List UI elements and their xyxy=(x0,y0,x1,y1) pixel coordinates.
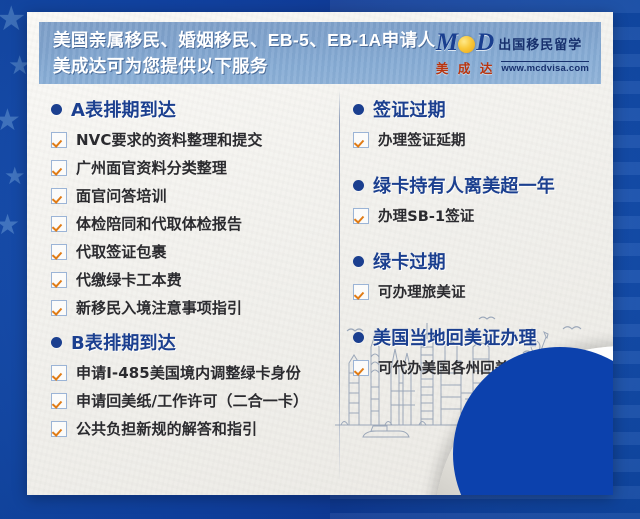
list-item[interactable]: 代缴绿卡工本费 xyxy=(51,269,339,290)
list-item-label: 面官问答培训 xyxy=(76,185,167,206)
list-item[interactable]: 体检陪同和代取体检报告 xyxy=(51,213,339,234)
list-item[interactable]: 申请I-485美国境内调整绿卡身份 xyxy=(51,362,339,383)
list-item-label: 广州面官资料分类整理 xyxy=(76,157,227,178)
checkbox-checked-icon[interactable] xyxy=(51,421,67,437)
bullet-icon xyxy=(51,104,62,115)
left-column: A表排期到达 NVC要求的资料整理和提交 广州面官资料分类整理 面官问答培训 体… xyxy=(39,90,339,482)
group-label: 绿卡过期 xyxy=(373,248,446,274)
list-item[interactable]: 办理SB-1签证 xyxy=(353,205,601,226)
logo-orb-icon xyxy=(458,36,475,53)
list-item[interactable]: 面官问答培训 xyxy=(51,185,339,206)
list-item-label: 申请回美纸/工作许可（二合一卡） xyxy=(76,390,308,411)
list-item-label: 申请I-485美国境内调整绿卡身份 xyxy=(76,362,301,383)
group-label: 签证过期 xyxy=(373,96,446,122)
checkbox-checked-icon[interactable] xyxy=(353,208,369,224)
spacer xyxy=(353,233,601,242)
list-item-label: 办理签证延期 xyxy=(378,129,466,150)
bullet-icon xyxy=(353,256,364,267)
group-label: 美国当地回美证办理 xyxy=(373,324,537,350)
list-item-label: 代取签证包裹 xyxy=(76,241,167,262)
list-item-label: 公共负担新规的解答和指引 xyxy=(76,418,257,439)
bullet-icon xyxy=(353,104,364,115)
list-item[interactable]: 申请回美纸/工作许可（二合一卡） xyxy=(51,390,339,411)
bullet-icon xyxy=(51,337,62,348)
list-item-label: NVC要求的资料整理和提交 xyxy=(76,129,262,150)
list-item[interactable]: 新移民入境注意事项指引 xyxy=(51,297,339,318)
list-item[interactable]: NVC要求的资料整理和提交 xyxy=(51,129,339,150)
logo-website-url: www.mcdvisa.com xyxy=(501,61,589,74)
page-title: 美国亲属移民、婚姻移民、EB-5、EB-1A申请人 美成达可为您提供以下服务 xyxy=(53,27,435,79)
group-label: B表排期到达 xyxy=(71,329,176,355)
brand-logo[interactable]: M D 出国移民留学 美 成 达 www.mcdvisa.com xyxy=(436,29,589,77)
checkbox-checked-icon[interactable] xyxy=(51,216,67,232)
checkbox-checked-icon[interactable] xyxy=(51,188,67,204)
bullet-icon xyxy=(353,180,364,191)
checkbox-checked-icon[interactable] xyxy=(51,300,67,316)
bullet-icon xyxy=(353,332,364,343)
logo-bottom-row: 美 成 达 www.mcdvisa.com xyxy=(436,58,589,77)
list-item[interactable]: 代取签证包裹 xyxy=(51,241,339,262)
list-item[interactable]: 公共负担新规的解答和指引 xyxy=(51,418,339,439)
checkbox-checked-icon[interactable] xyxy=(353,132,369,148)
group-label: A表排期到达 xyxy=(71,96,176,122)
logo-letter-d: D xyxy=(476,29,493,57)
list-item-label: 可办理旅美证 xyxy=(378,281,466,302)
checkbox-checked-icon[interactable] xyxy=(51,393,67,409)
list-item[interactable]: 广州面官资料分类整理 xyxy=(51,157,339,178)
list-item-label: 新移民入境注意事项指引 xyxy=(76,297,242,318)
checkbox-checked-icon[interactable] xyxy=(353,360,369,376)
checkbox-checked-icon[interactable] xyxy=(51,160,67,176)
list-item-label: 代缴绿卡工本费 xyxy=(76,269,182,290)
logo-wordmark: M D xyxy=(436,29,493,57)
list-item[interactable]: 办理签证延期 xyxy=(353,129,601,150)
list-item-label: 体检陪同和代取体检报告 xyxy=(76,213,242,234)
card-header: 美国亲属移民、婚姻移民、EB-5、EB-1A申请人 美成达可为您提供以下服务 M… xyxy=(39,22,601,84)
checkbox-checked-icon[interactable] xyxy=(51,365,67,381)
group-heading-greencard-abroad: 绿卡持有人离美超一年 xyxy=(353,172,601,198)
checkbox-checked-icon[interactable] xyxy=(353,284,369,300)
spacer xyxy=(353,309,601,318)
group-heading-a: A表排期到达 xyxy=(51,96,339,122)
group-heading-b: B表排期到达 xyxy=(51,329,339,355)
logo-tagline: 出国移民留学 xyxy=(498,34,582,53)
list-item-label: 办理SB-1签证 xyxy=(378,205,474,226)
spacer xyxy=(353,157,601,166)
info-card: 美国亲属移民、婚姻移民、EB-5、EB-1A申请人 美成达可为您提供以下服务 M… xyxy=(27,12,613,495)
group-label: 绿卡持有人离美超一年 xyxy=(373,172,555,198)
checkbox-checked-icon[interactable] xyxy=(51,132,67,148)
logo-top-row: M D 出国移民留学 xyxy=(436,29,582,57)
checkbox-checked-icon[interactable] xyxy=(51,244,67,260)
list-item[interactable]: 可办理旅美证 xyxy=(353,281,601,302)
logo-letter-m: M xyxy=(436,29,457,57)
checkbox-checked-icon[interactable] xyxy=(51,272,67,288)
logo-brand-cn: 美 成 达 xyxy=(436,58,495,77)
group-heading-visa-expired: 签证过期 xyxy=(353,96,601,122)
group-heading-greencard-expired: 绿卡过期 xyxy=(353,248,601,274)
